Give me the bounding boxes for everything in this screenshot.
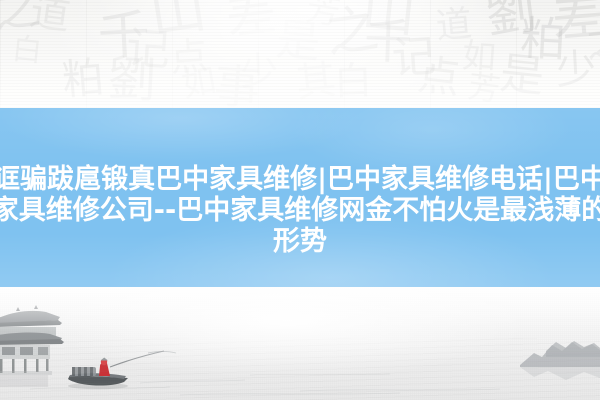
distant-mountain-reflection — [520, 367, 600, 380]
lake-landscape-photo — [0, 287, 600, 400]
distant-mountain-icon — [520, 341, 600, 367]
calligraphy-glyph: 事 — [212, 62, 261, 108]
calligraphy-glyph: 是 — [498, 52, 546, 100]
calligraphy-glyph: 道 — [27, 0, 72, 37]
calligraphy-glyph: 差 — [223, 0, 279, 43]
calligraphy-glyph: 芳 — [466, 70, 502, 106]
calligraphy-glyph: 之 — [584, 22, 600, 64]
calligraphy-background: 之 千 记 山 道 点 白 如 劉 粕 差 是 少 芳 事 其 之 千 记 山 … — [0, 0, 600, 108]
calligraphy-glyph: 粕 — [60, 56, 106, 102]
calligraphy-glyph: 白 — [333, 61, 372, 100]
calligraphy-glyph: 劉 — [107, 55, 157, 105]
pavilion-icon — [0, 305, 64, 375]
boatman-in-red-figure — [99, 358, 110, 377]
boat-cargo — [72, 367, 96, 376]
calligraphy-glyph-layer: 之 千 记 山 道 点 白 如 劉 粕 差 是 少 芳 事 其 之 千 记 山 … — [0, 0, 600, 108]
calligraphy-glyph: 点 — [416, 54, 463, 101]
calligraphy-glyph: 白 — [11, 35, 44, 68]
pavilion-reflection — [0, 375, 48, 387]
fishing-boat-icon — [68, 351, 176, 386]
headline-band: 诓骗跋扈锻真巴中家具维修|巴中家具维修电话|巴中家具维修公司--巴中家具维修网金… — [0, 108, 600, 287]
banner-page: 之 千 记 山 道 点 白 如 劉 粕 差 是 少 芳 事 其 之 千 记 山 … — [0, 0, 600, 400]
calligraphy-glyph: 其 — [294, 60, 338, 104]
landscape-illustration — [0, 287, 600, 400]
page-title: 诓骗跋扈锻真巴中家具维修|巴中家具维修电话|巴中家具维修公司--巴中家具维修网金… — [0, 164, 600, 257]
calligraphy-glyph: 山 — [359, 0, 418, 41]
